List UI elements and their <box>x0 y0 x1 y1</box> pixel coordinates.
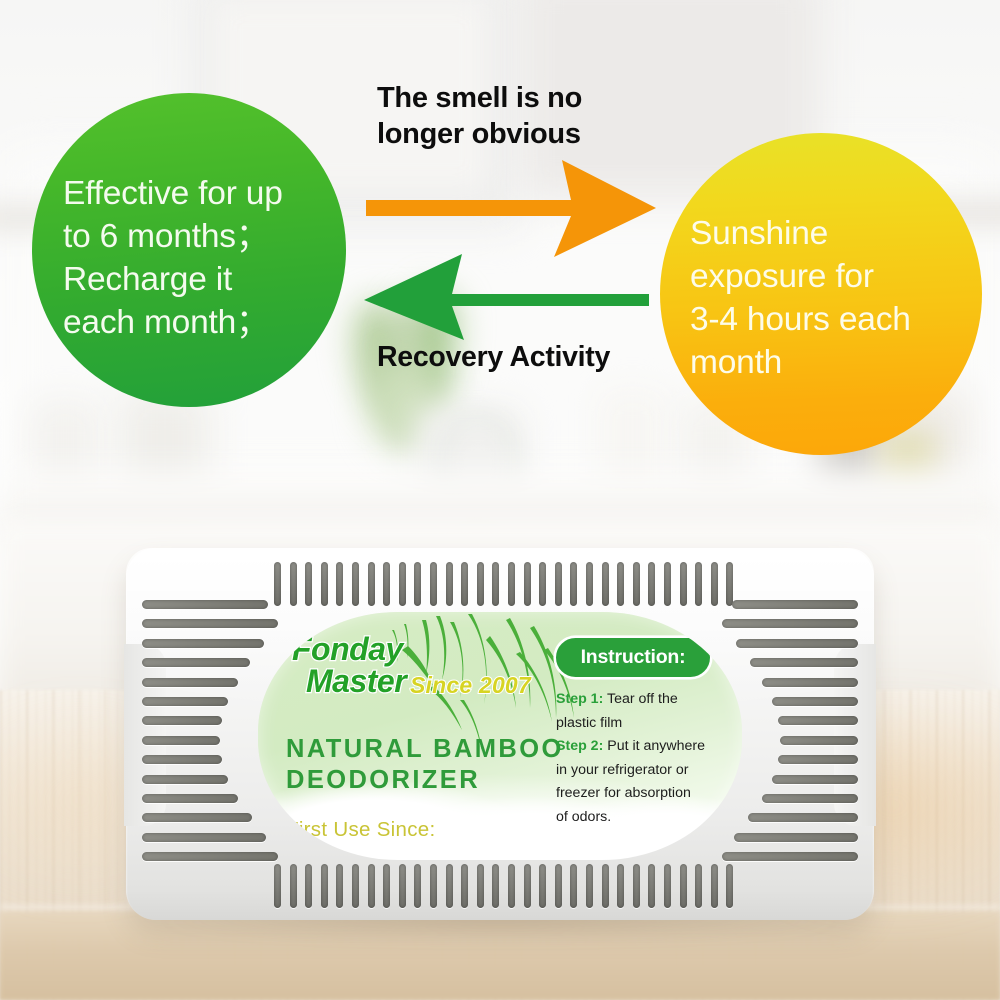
vent-slot-right <box>778 716 858 725</box>
brand-logo: Fonday Master <box>292 634 406 696</box>
vent-slot-bottom <box>648 864 655 908</box>
vent-slot-top <box>586 562 593 606</box>
vent-slot-left <box>142 716 222 725</box>
vent-slot-bottom <box>321 864 328 908</box>
instruction-line-3: Step 2: Put it anywhere <box>556 735 734 759</box>
vent-slot-top <box>555 562 562 606</box>
effectiveness-line-1: Effective for up <box>63 172 346 215</box>
vent-slot-top <box>726 562 733 606</box>
vent-slot-bottom <box>336 864 343 908</box>
vent-slot-right <box>762 678 858 687</box>
since-text: Since 2007 <box>410 672 531 699</box>
sunshine-badge-text: Sunshine exposure for 3-4 hours each mon… <box>660 212 982 384</box>
effectiveness-line-4: each month； <box>63 301 346 344</box>
vent-slot-top <box>274 562 281 606</box>
vent-slot-top <box>617 562 624 606</box>
vent-slot-left <box>142 658 250 667</box>
first-use-since-field: First Use Since: <box>286 818 435 842</box>
sunshine-line-1: Sunshine <box>690 212 982 255</box>
vent-slot-right <box>732 600 858 609</box>
vent-slot-bottom <box>508 864 515 908</box>
vent-slot-bottom <box>477 864 484 908</box>
instruction-line-2: plastic film <box>556 712 734 736</box>
sunshine-line-3: 3-4 hours each <box>690 298 982 341</box>
effectiveness-line-3: Recharge it <box>63 258 346 301</box>
vent-slot-right <box>762 794 858 803</box>
vent-slot-bottom <box>414 864 421 908</box>
vent-slot-right <box>778 755 858 764</box>
vent-slot-bottom <box>524 864 531 908</box>
sunshine-badge: Sunshine exposure for 3-4 hours each mon… <box>660 133 982 455</box>
effectiveness-line-2: to 6 months； <box>63 215 346 258</box>
vent-slot-top <box>477 562 484 606</box>
vent-slot-left <box>142 697 228 706</box>
brand-line-2: Master <box>306 666 406 696</box>
vent-slot-top <box>711 562 718 606</box>
vent-slot-top <box>570 562 577 606</box>
arrow-right-icon <box>366 160 656 260</box>
top-arrow-label-line-1: The smell is no <box>377 80 677 116</box>
product-infographic: Fonday Master Since 2007 NATURAL BAMBOO … <box>0 0 1000 1000</box>
instruction-steps: Step 1: Tear off the plastic film Step 2… <box>556 688 734 829</box>
product-name-line-2: DEODORIZER <box>286 765 564 796</box>
step-1-key: Step 1: <box>556 691 603 707</box>
vent-slot-right <box>722 619 858 628</box>
instruction-line-4: in your refrigerator or <box>556 759 734 783</box>
vent-slot-right <box>750 658 858 667</box>
vent-slot-top <box>461 562 468 606</box>
effectiveness-badge-text: Effective for up to 6 months； Recharge i… <box>32 172 346 344</box>
vent-slot-top <box>399 562 406 606</box>
vent-slot-bottom <box>664 864 671 908</box>
vent-slot-top <box>321 562 328 606</box>
brand-line-1: Fonday <box>292 634 406 664</box>
vent-slot-top <box>539 562 546 606</box>
instruction-heading-text: Instruction: <box>581 646 686 669</box>
vent-slot-bottom <box>290 864 297 908</box>
instruction-line-1: Step 1: Tear off the <box>556 688 734 712</box>
vent-slot-top <box>336 562 343 606</box>
product-name-line-1: NATURAL BAMBOO <box>286 734 564 765</box>
bottom-arrow-label: Recovery Activity <box>377 340 707 374</box>
sunshine-line-2: exposure for <box>690 255 982 298</box>
vent-slot-top <box>648 562 655 606</box>
vent-slot-bottom <box>586 864 593 908</box>
instruction-line-6: of odors. <box>556 806 734 830</box>
vent-slot-top <box>664 562 671 606</box>
instruction-block: Instruction: Step 1: Tear off the plasti… <box>556 638 734 829</box>
vent-slot-top <box>430 562 437 606</box>
vent-slot-bottom <box>711 864 718 908</box>
vent-slot-bottom <box>555 864 562 908</box>
vent-slot-top <box>305 562 312 606</box>
vent-slot-top <box>680 562 687 606</box>
vent-slot-right <box>736 639 858 648</box>
vent-slot-left <box>142 639 264 648</box>
vent-slot-bottom <box>570 864 577 908</box>
vent-slot-top <box>352 562 359 606</box>
effectiveness-badge: Effective for up to 6 months； Recharge i… <box>32 93 346 407</box>
vent-slot-bottom <box>492 864 499 908</box>
vent-slot-top <box>414 562 421 606</box>
vent-slot-top <box>695 562 702 606</box>
vent-slot-bottom <box>680 864 687 908</box>
vent-slot-top <box>368 562 375 606</box>
bottom-arrow-label-line-1: Recovery Activity <box>377 340 707 374</box>
instruction-line-5: freezer for absorption <box>556 782 734 806</box>
vent-slot-top <box>446 562 453 606</box>
vent-slot-bottom <box>274 864 281 908</box>
vent-slot-bottom <box>430 864 437 908</box>
bamboo-deodorizer-device: Fonday Master Since 2007 NATURAL BAMBOO … <box>126 548 874 920</box>
top-arrow-label-line-2: longer obvious <box>377 116 677 152</box>
vent-slot-right <box>772 697 858 706</box>
top-arrow-label: The smell is no longer obvious <box>377 80 677 152</box>
vent-slot-bottom <box>602 864 609 908</box>
vent-slot-left <box>142 794 238 803</box>
vent-slot-top <box>508 562 515 606</box>
vent-slot-left <box>142 736 220 745</box>
vent-slot-bottom <box>368 864 375 908</box>
arrow-left-icon <box>364 248 649 340</box>
vent-slot-bottom <box>695 864 702 908</box>
vent-slot-bottom <box>617 864 624 908</box>
vent-slot-right <box>734 833 858 842</box>
vent-slot-left <box>142 755 222 764</box>
vent-slot-left <box>142 775 228 784</box>
vent-slot-left <box>142 600 268 609</box>
vent-slot-right <box>748 813 858 822</box>
sunshine-line-4: month <box>690 341 982 384</box>
vent-slot-left <box>142 678 238 687</box>
vent-slot-bottom <box>305 864 312 908</box>
instruction-heading-pill: Instruction: <box>556 638 710 677</box>
vent-slot-bottom <box>461 864 468 908</box>
vent-slot-bottom <box>633 864 640 908</box>
step-2-key: Step 2: <box>556 738 603 754</box>
vent-slot-right <box>772 775 858 784</box>
vent-slot-left <box>142 833 266 842</box>
product-label: Fonday Master Since 2007 NATURAL BAMBOO … <box>258 612 742 860</box>
vent-slot-top <box>383 562 390 606</box>
vent-slot-top <box>524 562 531 606</box>
vent-slot-right <box>780 736 858 745</box>
vent-slot-right <box>722 852 858 861</box>
vent-slot-bottom <box>726 864 733 908</box>
vent-slot-bottom <box>399 864 406 908</box>
vent-slot-top <box>633 562 640 606</box>
vent-slot-top <box>602 562 609 606</box>
vent-slot-top <box>290 562 297 606</box>
vent-slot-bottom <box>352 864 359 908</box>
vent-slot-bottom <box>383 864 390 908</box>
vent-slot-top <box>492 562 499 606</box>
vent-slot-left <box>142 813 252 822</box>
product-name: NATURAL BAMBOO DEODORIZER <box>286 734 564 796</box>
vent-slot-bottom <box>446 864 453 908</box>
vent-slot-bottom <box>539 864 546 908</box>
